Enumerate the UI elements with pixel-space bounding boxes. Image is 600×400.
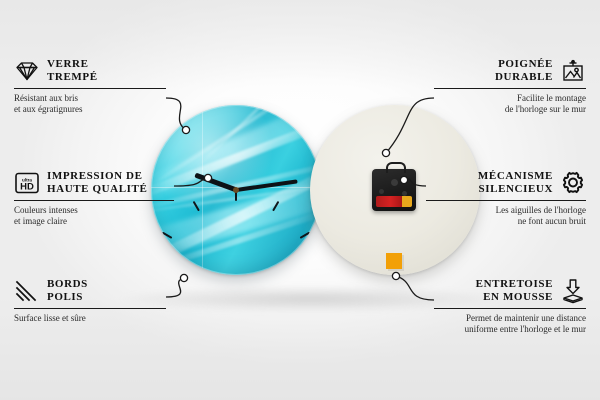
feature-poignee-durable: POIGNÉE DURABLE Fac — [414, 58, 586, 115]
feature-desc-line2: de l'horloge sur le mur — [414, 104, 586, 115]
feature-description: Surface lisse et sûre — [14, 313, 186, 324]
feature-divider — [434, 308, 586, 309]
foam-spacer — [386, 253, 402, 269]
feature-title-line1: POIGNÉE — [495, 58, 553, 71]
clock-tick — [151, 274, 236, 275]
feature-desc-line2: et image claire — [14, 216, 194, 227]
feature-divider — [14, 200, 174, 201]
feature-header: BORDS POLIS — [14, 278, 186, 304]
feature-header: ENTRETOISE EN MOUSSE — [414, 278, 586, 304]
feature-description: Résistant aux bris et aux égratignures — [14, 93, 186, 115]
diamond-icon — [14, 58, 40, 84]
feature-title-line1: ENTRETOISE — [476, 278, 553, 291]
feature-desc-line1: Couleurs intenses — [14, 205, 194, 216]
clock-tick — [235, 190, 237, 275]
hanging-frame-icon — [560, 58, 586, 84]
ultra-hd-icon-bottom-text: HD — [20, 182, 34, 193]
feature-header: MÉCANISME SILENCIEUX — [406, 170, 586, 196]
ultra-hd-icon: ultra HD — [14, 170, 40, 196]
feature-mecanisme-silencieux: MÉCANISME SILENCIEUX Les aiguilles de l'… — [406, 170, 586, 227]
feature-desc-line2: ne font aucun bruit — [406, 216, 586, 227]
clock-tick — [236, 274, 321, 275]
feature-title: BORDS POLIS — [47, 278, 88, 304]
feature-title: VERRE TREMPÉ — [47, 58, 98, 84]
feature-title-line2: TREMPÉ — [47, 71, 98, 84]
foam-spacer-icon — [560, 278, 586, 304]
feature-divider — [14, 308, 166, 309]
mechanism-detail — [379, 189, 384, 194]
feature-desc-line1: Facilite le montage — [414, 93, 586, 104]
feature-title-line2: POLIS — [47, 291, 88, 304]
polished-edges-icon — [14, 278, 40, 304]
feature-title-line2: SILENCIEUX — [478, 183, 553, 196]
feature-header: POIGNÉE DURABLE — [414, 58, 586, 84]
infographic-canvas: VERRE TREMPÉ Résistant aux bris et aux é… — [0, 0, 600, 400]
feature-divider — [14, 88, 166, 89]
feature-desc-line1: Surface lisse et sûre — [14, 313, 186, 324]
feature-title-line1: VERRE — [47, 58, 98, 71]
feature-desc-line2: et aux égratignures — [14, 104, 186, 115]
feature-divider — [426, 200, 586, 201]
feature-title: IMPRESSION DE HAUTE QUALITÉ — [47, 170, 147, 196]
feature-desc-line1: Permet de maintenir une distance — [414, 313, 586, 324]
feature-header: VERRE TREMPÉ — [14, 58, 186, 84]
feature-description: Couleurs intenses et image claire — [14, 205, 194, 227]
gear-icon — [560, 170, 586, 196]
feature-title-line2: HAUTE QUALITÉ — [47, 183, 147, 196]
feature-bords-polis: BORDS POLIS Surface lisse et sûre — [14, 278, 186, 324]
clock-center-cap — [233, 187, 239, 193]
hanging-handle-icon — [386, 162, 406, 173]
feature-desc-line1: Résistant aux bris — [14, 93, 186, 104]
feature-title-line2: DURABLE — [495, 71, 553, 84]
feature-desc-line1: Les aiguilles de l'horloge — [406, 205, 586, 216]
feature-divider — [434, 88, 586, 89]
feature-description: Permet de maintenir une distance uniform… — [414, 313, 586, 335]
feature-title-line1: IMPRESSION DE — [47, 170, 147, 183]
feature-title: ENTRETOISE EN MOUSSE — [476, 278, 553, 304]
feature-impression-haute-qualite: ultra HD IMPRESSION DE HAUTE QUALITÉ Cou… — [14, 170, 194, 227]
mechanism-shaft — [391, 179, 398, 186]
feature-title-line1: MÉCANISME — [478, 170, 553, 183]
feature-description: Facilite le montage de l'horloge sur le … — [414, 93, 586, 115]
feature-verre-trempe: VERRE TREMPÉ Résistant aux bris et aux é… — [14, 58, 186, 115]
feature-header: ultra HD IMPRESSION DE HAUTE QUALITÉ — [14, 170, 194, 196]
feature-entretoise-en-mousse: ENTRETOISE EN MOUSSE Permet de maintenir… — [414, 278, 586, 335]
feature-title-line1: BORDS — [47, 278, 88, 291]
feature-desc-line2: uniforme entre l'horloge et le mur — [414, 324, 586, 335]
feature-title: POIGNÉE DURABLE — [495, 58, 553, 84]
feature-title-line2: EN MOUSSE — [476, 291, 553, 304]
feature-description: Les aiguilles de l'horloge ne font aucun… — [406, 205, 586, 227]
feature-title: MÉCANISME SILENCIEUX — [478, 170, 553, 196]
